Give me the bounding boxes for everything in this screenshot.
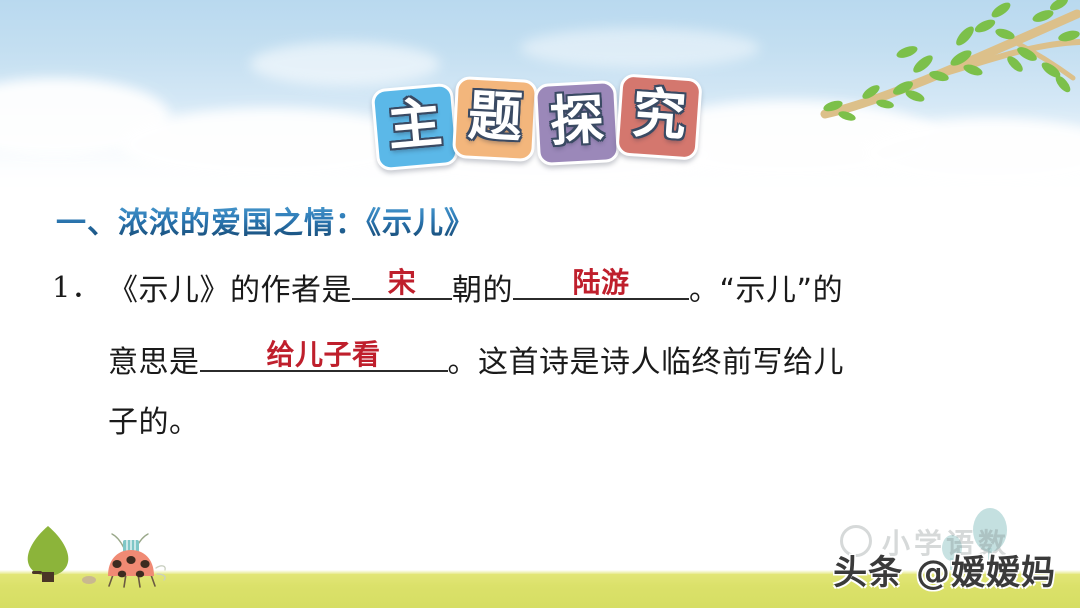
title-tile-char: 究	[630, 86, 688, 144]
title-tile-char: 主	[386, 96, 445, 155]
title-tile-1: 主	[371, 83, 460, 172]
answer-text: 陆游	[513, 269, 689, 297]
title-tile-4: 究	[615, 73, 703, 161]
answer-text: 给儿子看	[200, 341, 448, 369]
section-heading: 一、浓浓的爱国之情：《示儿》	[56, 198, 475, 242]
title-tile-char: 探	[549, 93, 606, 150]
tree-icon	[28, 526, 69, 582]
question-line-3: 子的。	[108, 408, 200, 438]
answer-blank-meaning[interactable]: 给儿子看	[200, 336, 448, 372]
answer-text: 宋	[352, 269, 452, 297]
title-tile-2: 题	[452, 76, 538, 162]
title-tile-3: 探	[534, 80, 620, 166]
question-text-segment: 子的。	[108, 405, 200, 440]
bottom-left-decoration	[18, 518, 198, 590]
page-title: 主 题 探 究	[370, 72, 710, 172]
question-line-2: 意思是给儿子看。这首诗是诗人临终前写给儿	[108, 336, 844, 378]
answer-blank-author[interactable]: 陆游	[513, 264, 689, 300]
pebble-icon	[82, 576, 96, 584]
ladybug-icon	[108, 534, 165, 587]
cloud-shape	[520, 28, 760, 68]
question-number: 1．	[52, 264, 101, 306]
slide-canvas: 主 题 探 究 一、浓浓的爱国之情：《示儿》 1． 《示儿》的作者是宋朝的陆游。…	[0, 0, 1080, 608]
question-text-segment: 意思是	[108, 345, 200, 380]
question-text-segment: 。这首诗是诗人临终前写给儿	[448, 345, 845, 380]
answer-blank-dynasty[interactable]: 宋	[352, 264, 452, 300]
question-text-segment: 《示儿》的作者是	[108, 273, 352, 308]
title-tile-char: 题	[467, 89, 524, 146]
question-text-segment: 朝的	[452, 273, 513, 308]
question-text-segment: 。“示儿”的	[689, 273, 843, 308]
question-line-1: 《示儿》的作者是宋朝的陆游。“示儿”的	[108, 264, 843, 306]
watermark-main: 头条 @嫒嫒妈	[833, 545, 1056, 594]
